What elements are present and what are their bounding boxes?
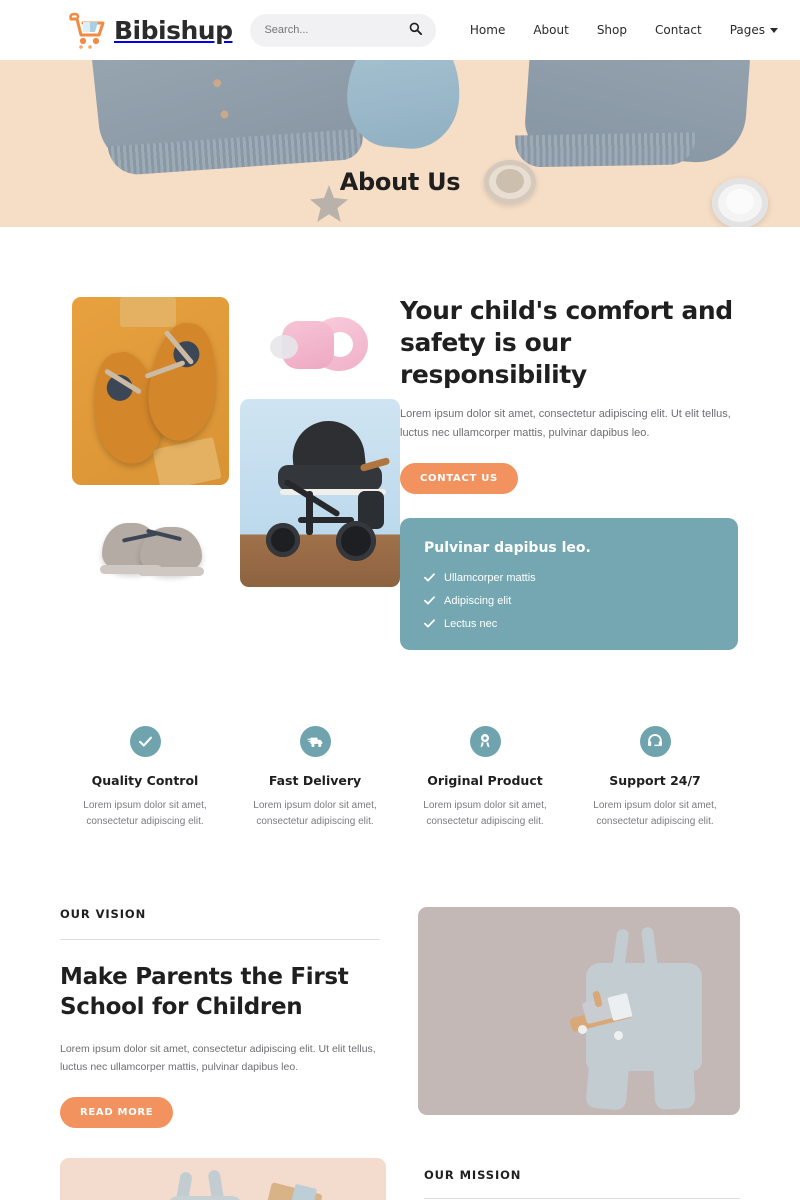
brand-name: Bibishup [114,16,232,45]
brand-logo-link[interactable]: Bibishup [66,10,232,50]
nav-item-about[interactable]: About [533,23,568,37]
highlight-list-label: Ullamcorper mattis [444,572,536,584]
baby-shoes-orange-image [72,297,229,485]
pacifier-image [256,295,386,393]
divider [424,1198,740,1199]
nav-item-home[interactable]: Home [470,23,505,37]
check-circle-icon [130,726,161,757]
divider [60,939,380,940]
stroller-image [240,399,400,587]
highlight-list-item: Ullamcorper mattis [424,572,714,584]
highlight-card-title: Pulvinar dapibus leo. [424,540,714,556]
mission-text-block: OUR MISSION Baby Comfort Lorem ipsum dol… [424,1158,740,1200]
search-input[interactable] [264,24,409,36]
about-text-block: Your child's comfort and safety is our r… [400,287,740,650]
search-bar[interactable] [250,14,436,47]
highlight-list-item: Lectus nec [424,618,714,630]
vision-overalls-image [418,907,740,1115]
about-highlight-card: Pulvinar dapibus leo. Ullamcorper mattis… [400,518,738,650]
search-button[interactable] [409,22,422,38]
feature-title: Quality Control [72,773,218,788]
vision-paragraph: Lorem ipsum dolor sit amet, consectetur … [60,1040,380,1077]
vision-eyebrow: OUR VISION [60,907,380,921]
feature-desc: Lorem ipsum dolor sit amet, consectetur … [412,798,558,831]
check-icon [424,595,435,606]
feature-original-product: Original Product Lorem ipsum dolor sit a… [400,726,570,831]
hero-banner: About Us [0,60,800,227]
mission-eyebrow: OUR MISSION [424,1168,740,1182]
about-section: Your child's comfort and safety is our r… [60,227,740,650]
search-icon [409,22,422,38]
toys-overalls-image [60,1158,386,1200]
feature-fast-delivery: Fast Delivery Lorem ipsum dolor sit amet… [230,726,400,831]
mission-section: OUR MISSION Baby Comfort Lorem ipsum dol… [60,1158,740,1200]
contact-us-button[interactable]: CONTACT US [400,463,518,494]
feature-title: Support 24/7 [582,773,728,788]
highlight-list-label: Lectus nec [444,618,497,630]
award-medal-icon [470,726,501,757]
check-icon [424,572,435,583]
delivery-truck-icon [300,726,331,757]
feature-title: Original Product [412,773,558,788]
nav-label: Shop [597,23,627,37]
shopping-cart-icon [66,10,108,50]
chevron-down-icon [770,28,778,33]
nav-label: Pages [730,23,765,37]
vision-section: OUR VISION Make Parents the First School… [60,907,740,1128]
feature-desc: Lorem ipsum dolor sit amet, consectetur … [582,798,728,831]
vision-text-block: OUR VISION Make Parents the First School… [60,907,380,1128]
nav-item-contact[interactable]: Contact [655,23,702,37]
nav-item-pages[interactable]: Pages [730,23,778,37]
page-title: About Us [0,168,800,196]
baby-shoes-grey-image [88,509,220,589]
feature-desc: Lorem ipsum dolor sit amet, consectetur … [72,798,218,831]
feature-desc: Lorem ipsum dolor sit amet, consectetur … [242,798,388,831]
vision-heading: Make Parents the First School for Childr… [60,962,380,1023]
nav-item-shop[interactable]: Shop [597,23,627,37]
check-icon [424,618,435,629]
highlight-list-item: Adipiscing elit [424,595,714,607]
banner-cardigan-image [88,60,367,169]
feature-title: Fast Delivery [242,773,388,788]
banner-sweater-image [523,60,753,165]
main-navigation: Home About Shop Contact Pages [470,23,778,37]
read-more-button[interactable]: READ MORE [60,1097,173,1128]
feature-support-247: Support 24/7 Lorem ipsum dolor sit amet,… [570,726,740,831]
about-paragraph: Lorem ipsum dolor sit amet, consectetur … [400,405,740,443]
about-image-collage [60,287,400,587]
feature-quality-control: Quality Control Lorem ipsum dolor sit am… [60,726,230,831]
about-heading: Your child's comfort and safety is our r… [400,295,740,391]
nav-label: About [533,23,568,37]
features-section: Quality Control Lorem ipsum dolor sit am… [60,726,740,831]
site-header: Bibishup Home About Shop Contact Pages [0,0,800,60]
nav-label: Contact [655,23,702,37]
nav-label: Home [470,23,505,37]
headset-support-icon [640,726,671,757]
highlight-list-label: Adipiscing elit [444,595,511,607]
